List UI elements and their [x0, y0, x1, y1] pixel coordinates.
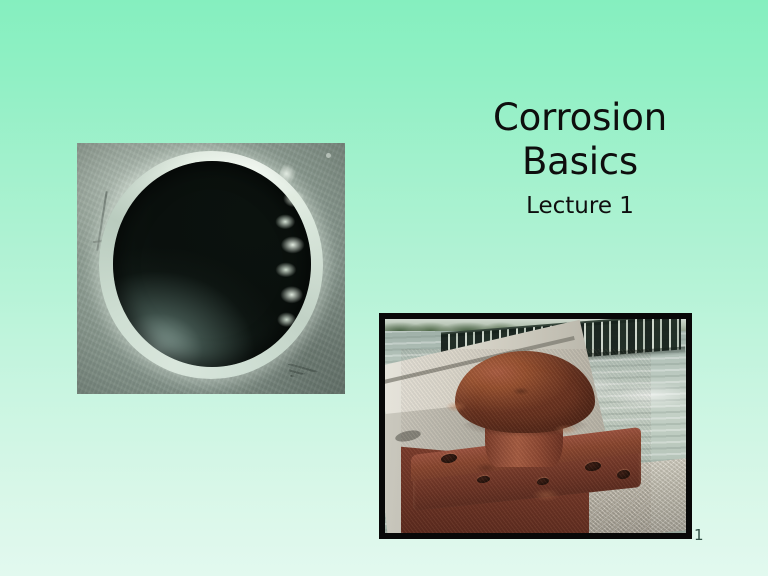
slide-title-line-1: Corrosion	[430, 96, 730, 140]
slide-page-number: 1	[694, 526, 718, 544]
pipe-photo-vignette	[77, 143, 345, 394]
presentation-slide: Corrosion Basics Lecture 1	[0, 0, 768, 576]
rusty-bollard-photo	[379, 313, 692, 539]
corroded-pipe-bore-photo	[77, 143, 345, 394]
slide-title-block: Corrosion Basics Lecture 1	[430, 96, 730, 221]
bollard-scene	[385, 319, 686, 533]
slide-title-line-2: Basics	[430, 140, 730, 184]
slide-subtitle: Lecture 1	[430, 191, 730, 221]
